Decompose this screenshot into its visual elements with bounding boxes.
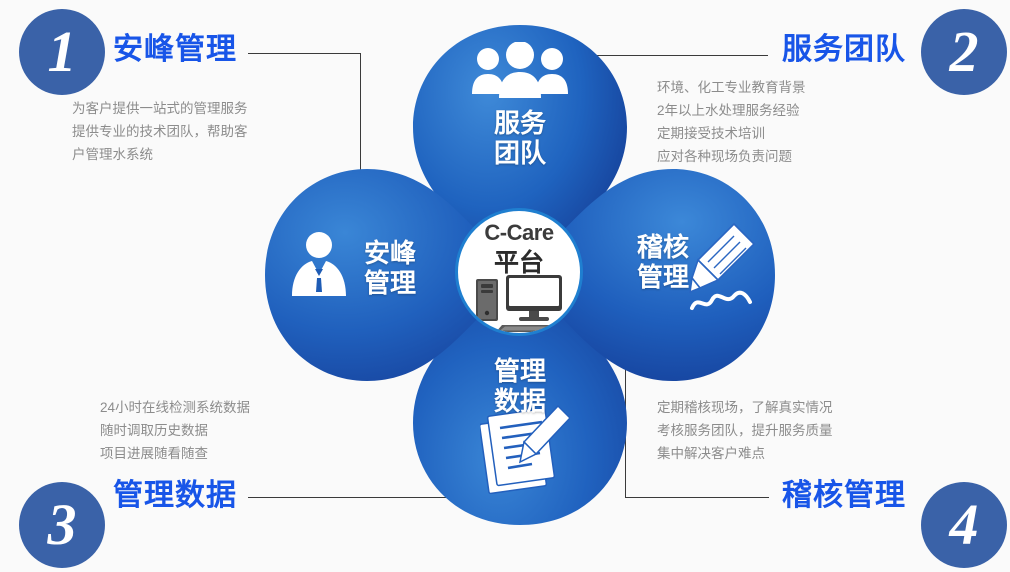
- section-body-3: 24小时在线检测系统数据 随时调取历史数据 项目进展随看随查: [100, 396, 250, 465]
- section-number-4: 4: [921, 482, 1007, 568]
- section-number-2: 2: [921, 9, 1007, 95]
- section-number-1: 1: [19, 9, 105, 95]
- section-title-management-data: 管理数据: [113, 470, 237, 514]
- section-title-anfeng-management: 安峰管理: [113, 24, 237, 68]
- section-title-audit-management: 稽核管理: [782, 470, 906, 514]
- body-line: 项目进展随看随查: [100, 442, 250, 465]
- body-line: 随时调取历史数据: [100, 419, 250, 442]
- body-line: 24小时在线检测系统数据: [100, 396, 250, 419]
- desktop-computer-icon: [472, 273, 572, 333]
- infographic-canvas: 1 2 3 4 安峰管理 服务团队 管理数据 稽核管理 为客户提供一站式的管理服…: [0, 0, 1010, 572]
- section-title-service-team: 服务团队: [782, 24, 906, 68]
- body-line: 为客户提供一站式的管理服务: [72, 97, 248, 120]
- body-line: 提供专业的技术团队，帮助客: [72, 120, 248, 143]
- section-body-1: 为客户提供一站式的管理服务 提供专业的技术团队，帮助客 户管理水系统: [72, 97, 248, 166]
- body-line: 户管理水系统: [72, 143, 248, 166]
- center-hub: C-Care 平台: [455, 208, 583, 336]
- section-number-3: 3: [19, 482, 105, 568]
